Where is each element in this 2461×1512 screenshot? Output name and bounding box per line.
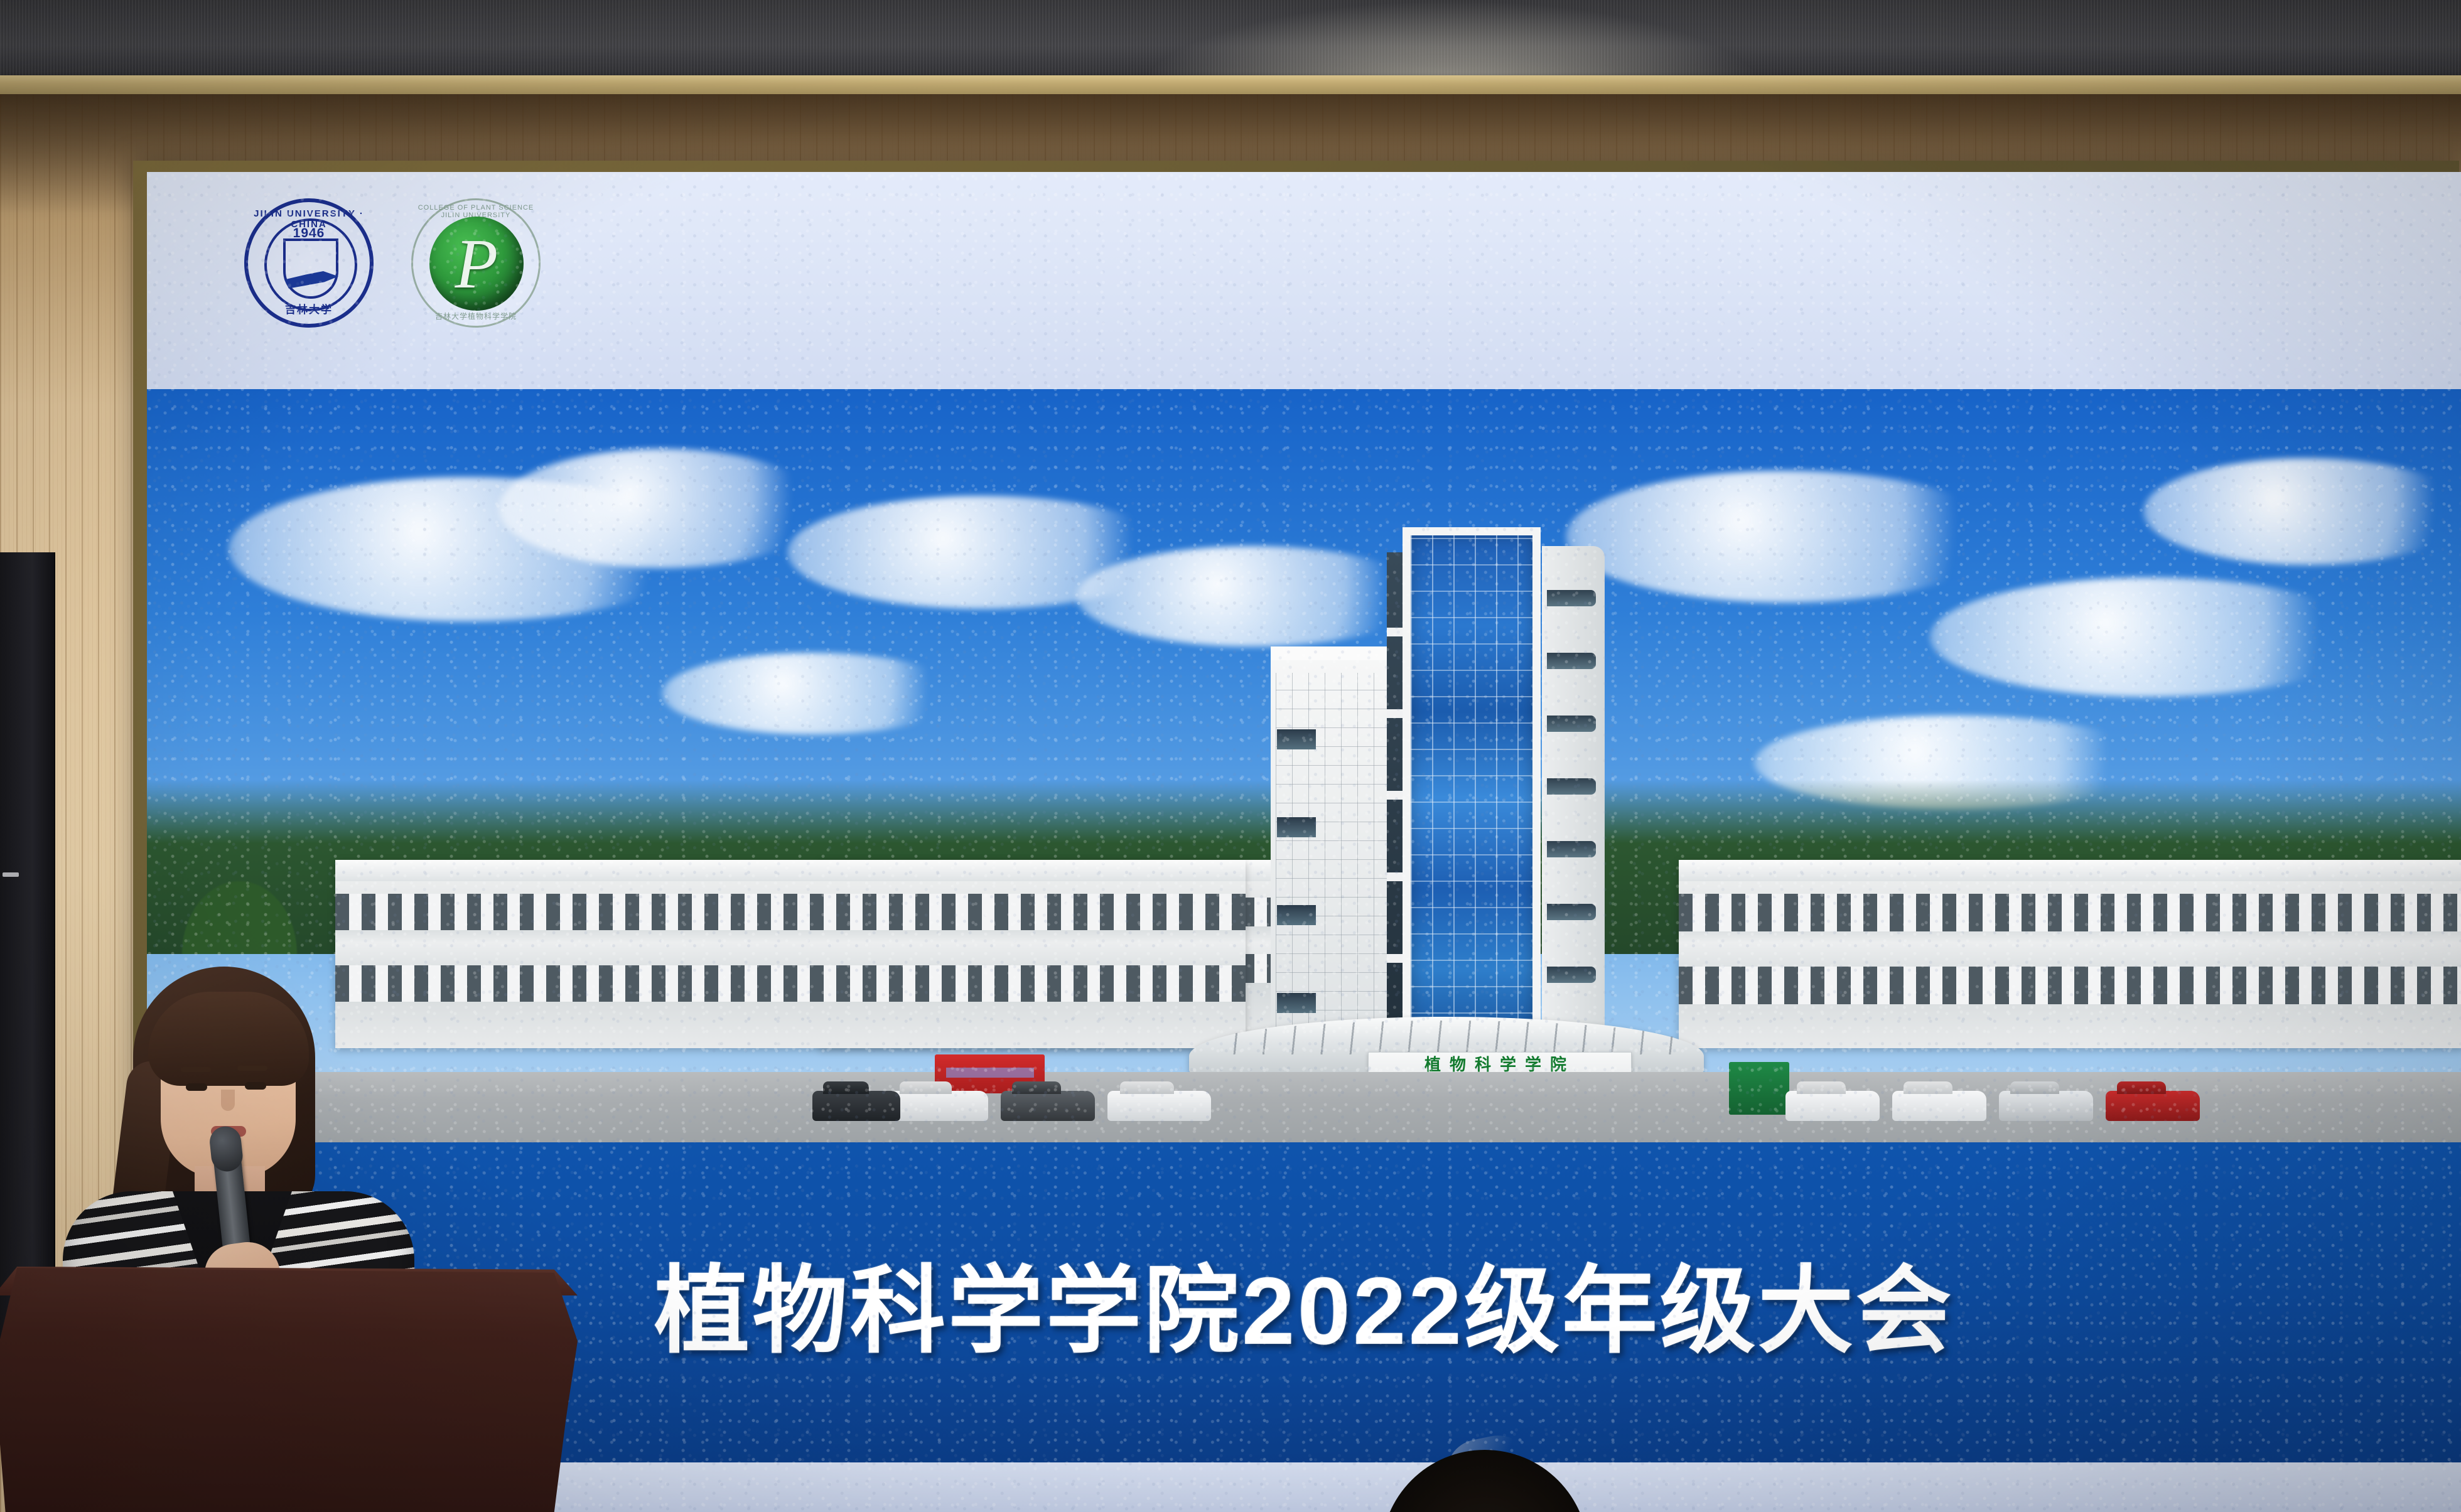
tower-window bbox=[1277, 993, 1316, 1013]
floor-band bbox=[1387, 709, 1404, 718]
parked-car bbox=[812, 1091, 900, 1121]
cloud bbox=[498, 449, 825, 568]
parked-car bbox=[1001, 1091, 1095, 1121]
canopy-ribs bbox=[1208, 1021, 1685, 1054]
podium-lectern bbox=[0, 1268, 578, 1512]
ju-seal-shield bbox=[283, 239, 338, 299]
tower-left-block bbox=[1271, 646, 1396, 1048]
plant-science-tower bbox=[1271, 527, 1622, 1048]
tower-window bbox=[1547, 967, 1596, 983]
cloud bbox=[1566, 471, 2005, 603]
window-row bbox=[1679, 967, 2461, 1004]
building-left-wing bbox=[335, 860, 1246, 1048]
ceiling-gold-trim bbox=[0, 75, 2461, 97]
floor-band bbox=[1387, 872, 1404, 881]
auditorium-scene: JILIN UNIVERSITY · CHINA 1946 吉林大学 COLLE… bbox=[0, 0, 2461, 1512]
slide-title: 植物科学学院2022级年级大会 bbox=[654, 1233, 1954, 1371]
ps-emblem-globe: P bbox=[429, 217, 524, 311]
speaker-eyebrow-left bbox=[181, 1067, 211, 1072]
tower-glass-curtain-wall bbox=[1403, 527, 1541, 1048]
floor-band bbox=[1387, 628, 1404, 636]
tower-right-block bbox=[1542, 546, 1605, 1048]
parked-car bbox=[888, 1091, 988, 1121]
parked-car bbox=[1892, 1091, 1986, 1121]
tower-window bbox=[1547, 590, 1596, 606]
parked-car bbox=[1999, 1091, 2093, 1121]
building-right-wing bbox=[1679, 860, 2461, 1048]
parked-car bbox=[2106, 1091, 2200, 1121]
ceiling-band bbox=[0, 0, 2461, 83]
cloud bbox=[1930, 577, 2369, 697]
tower-window bbox=[1277, 817, 1316, 837]
green-notice-board bbox=[1729, 1062, 1789, 1115]
tower-window bbox=[1547, 653, 1596, 669]
tower-window bbox=[1277, 729, 1316, 749]
tower-window bbox=[1547, 841, 1596, 857]
window-row bbox=[335, 894, 1246, 930]
floor-band bbox=[1387, 954, 1404, 963]
tower-window bbox=[1547, 716, 1596, 732]
speaker-hair-front bbox=[148, 992, 309, 1086]
logo-group: JILIN UNIVERSITY · CHINA 1946 吉林大学 COLLE… bbox=[244, 198, 541, 328]
ceiling-light-glow bbox=[1132, 0, 1772, 83]
tower-stair-strip bbox=[1387, 552, 1404, 1048]
tower-window bbox=[1547, 778, 1596, 795]
plant-science-emblem-icon: COLLEGE OF PLANT SCIENCE JILIN UNIVERSIT… bbox=[411, 198, 541, 328]
cloud bbox=[2143, 458, 2461, 565]
slide-header-band: JILIN UNIVERSITY · CHINA 1946 吉林大学 COLLE… bbox=[147, 172, 2461, 389]
tower-window bbox=[1277, 905, 1316, 925]
ju-seal-arc-bottom-text: 吉林大学 bbox=[248, 301, 370, 316]
speaker-eye-left bbox=[186, 1083, 207, 1091]
speaker-nose bbox=[221, 1090, 235, 1111]
tower-mullion-grid bbox=[1411, 535, 1532, 1040]
jilin-university-seal-icon: JILIN UNIVERSITY · CHINA 1946 吉林大学 bbox=[244, 198, 374, 328]
ps-emblem-monogram: P bbox=[429, 220, 524, 308]
parked-car bbox=[1107, 1091, 1211, 1121]
parked-car bbox=[1785, 1091, 1880, 1121]
window-row bbox=[335, 965, 1246, 1002]
floor-band bbox=[1387, 791, 1404, 800]
speaker-eyebrow-right bbox=[237, 1066, 267, 1071]
window-row bbox=[1679, 894, 2461, 931]
tower-window bbox=[1547, 904, 1596, 920]
building-sign-chinese: 植物科学学院 bbox=[1369, 1055, 1631, 1074]
campus-photo: 植物科学学院 COLLEGE OF PLANT SCIENCE bbox=[147, 389, 2461, 1142]
ps-emblem-arc-bottom-text: 吉林大学植物科学学院 bbox=[413, 311, 539, 321]
speaker-eye-right bbox=[245, 1082, 266, 1090]
